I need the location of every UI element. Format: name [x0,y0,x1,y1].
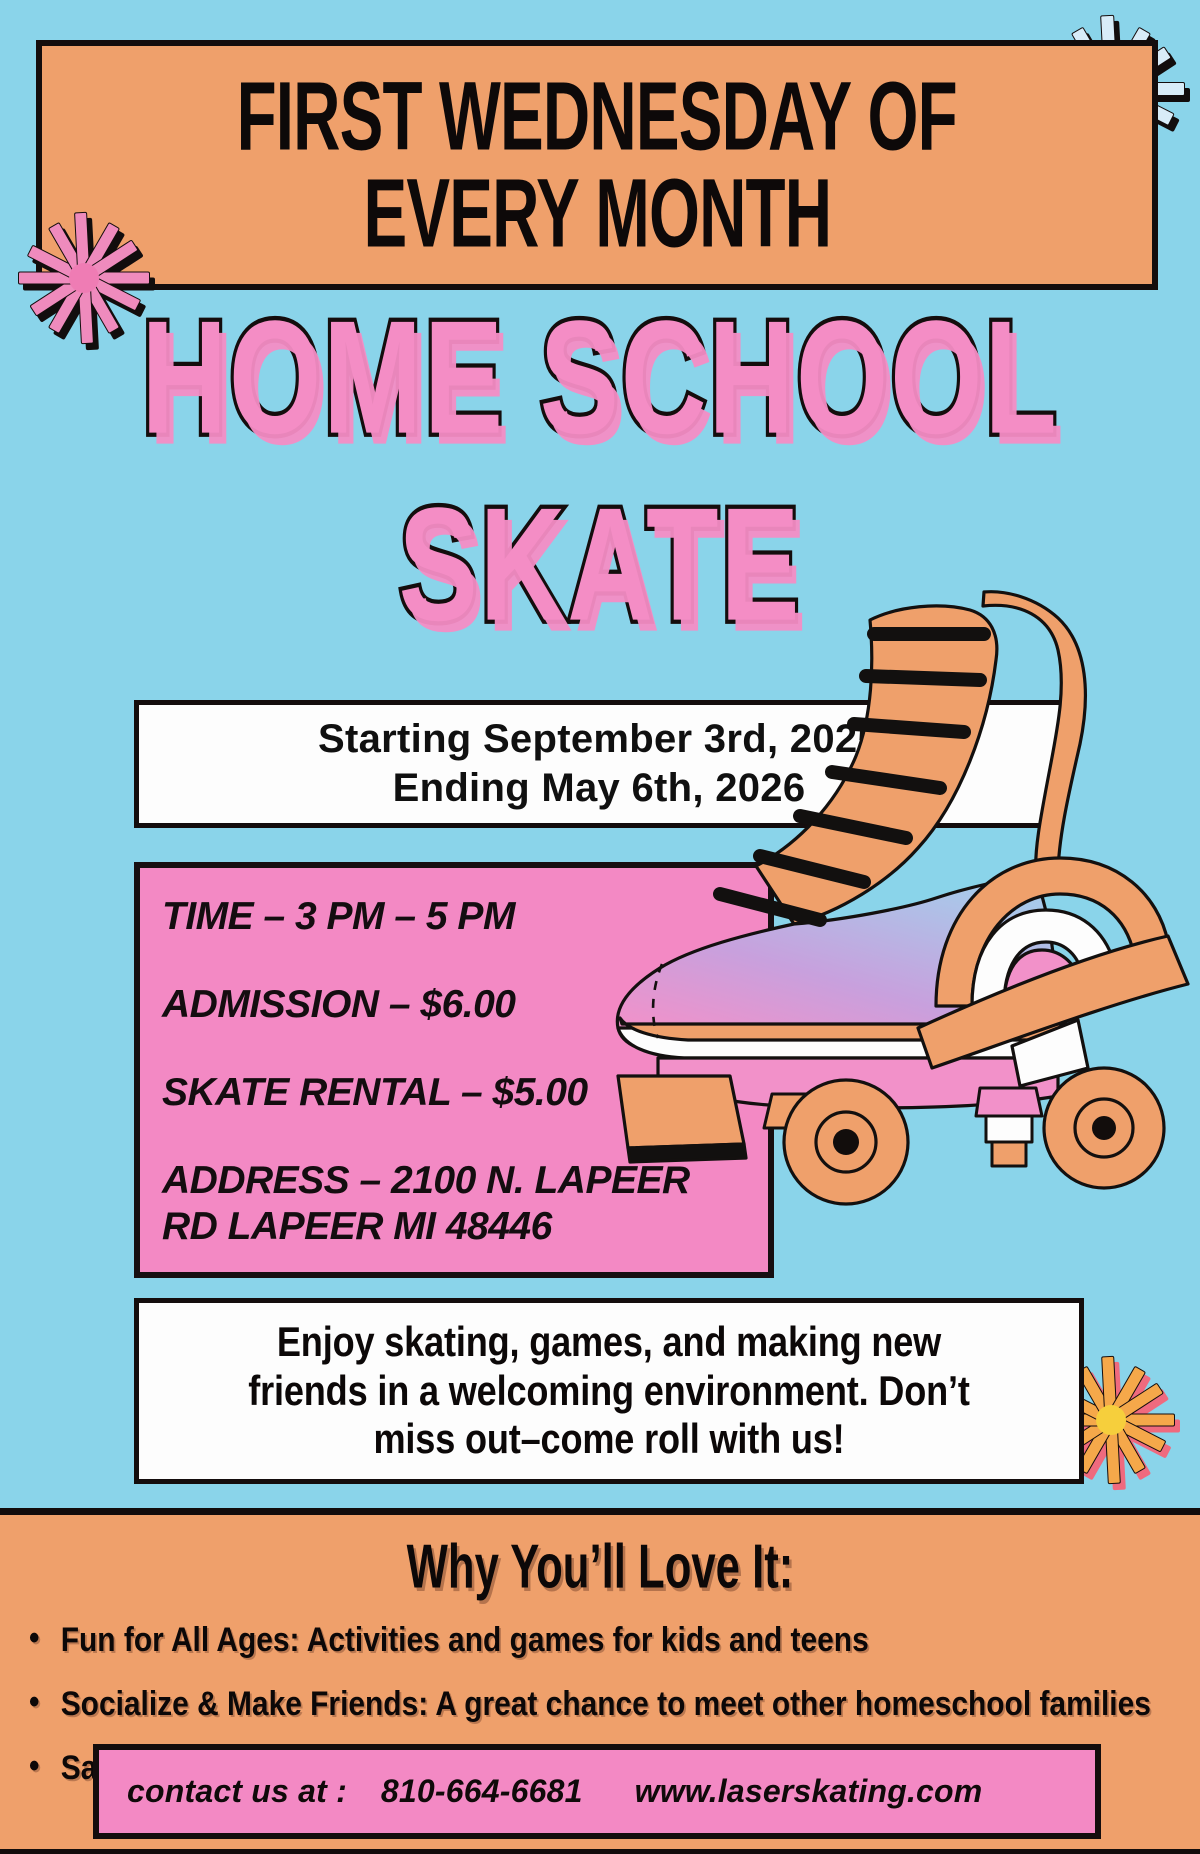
contact-website[interactable]: www.laserskating.com [635,1773,983,1809]
header-band: FIRST WEDNESDAY OF EVERY MONTH [36,40,1158,290]
address-line-2: RD LAPEER MI 48446 [162,1204,768,1250]
contact-label: contact us at : [127,1773,347,1809]
roller-skate-illustration [588,576,1200,1086]
address-line-1: ADDRESS – 2100 N. LAPEER [162,1159,690,1202]
header-line-2: EVERY MONTH [363,162,831,265]
list-item: Fun for All Ages: Activities and games f… [22,1623,1059,1657]
list-item: Socialize & Make Friends: A great chance… [22,1687,1059,1721]
description-text: Enjoy skating, games, and making new fri… [217,1318,1001,1464]
why-love-it-section: Why You’ll Love It: Fun for All Ages: Ac… [0,1508,1200,1854]
detail-address: ADDRESS – 2100 N. LAPEER RD LAPEER MI 48… [162,1158,768,1250]
page-title: HOME SCHOOL SKATE [0,296,1200,617]
header-line-1: FIRST WEDNESDAY OF [237,65,957,168]
poster-canvas: FIRST WEDNESDAY OF EVERY MONTH HOME SCHO… [0,0,1200,1854]
contact-text: contact us at :810-664-6681www.laserskat… [127,1773,982,1810]
description-box: Enjoy skating, games, and making new fri… [134,1298,1084,1484]
title-line-1: HOME SCHOOL [60,296,1140,460]
contact-phone[interactable]: 810-664-6681 [381,1773,583,1809]
contact-bar[interactable]: contact us at :810-664-6681www.laserskat… [93,1744,1101,1839]
why-heading: Why You’ll Love It: [96,1531,1104,1603]
